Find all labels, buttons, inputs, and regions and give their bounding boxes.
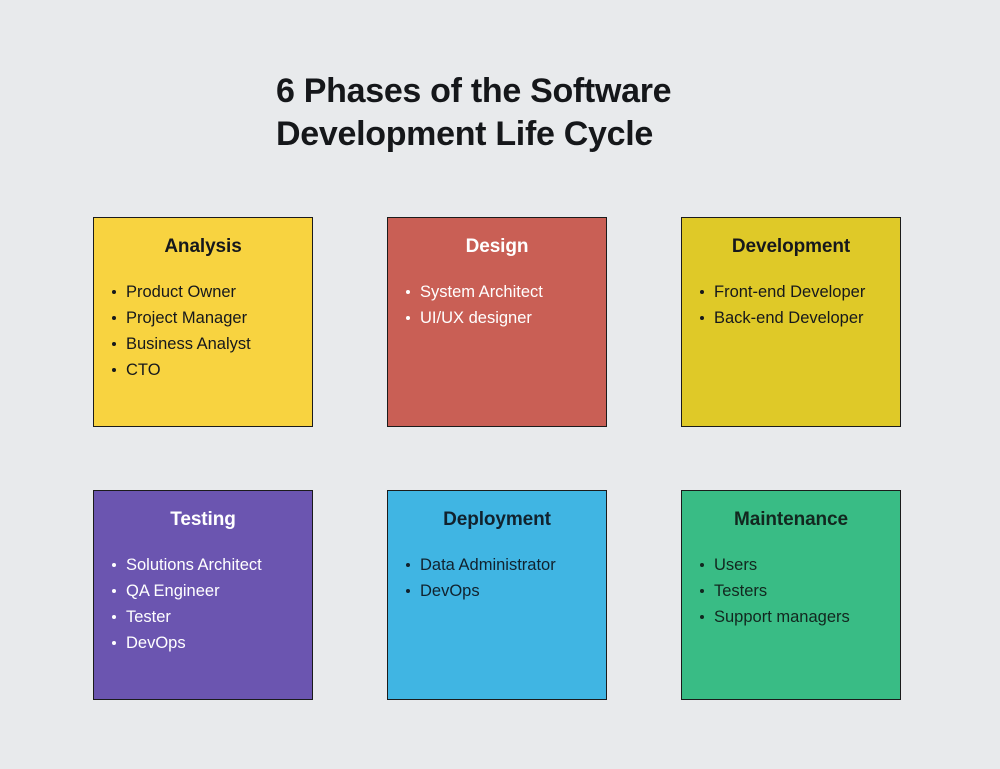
phase-role-item: Testers bbox=[698, 578, 890, 604]
phase-role-item: Tester bbox=[110, 604, 302, 630]
phase-role-list: Data AdministratorDevOps bbox=[388, 552, 606, 604]
phase-role-list: Product OwnerProject ManagerBusiness Ana… bbox=[94, 279, 312, 383]
phase-card-analysis[interactable]: AnalysisProduct OwnerProject ManagerBusi… bbox=[93, 217, 313, 427]
phase-role-item: Users bbox=[698, 552, 890, 578]
phase-role-list: Front-end DeveloperBack-end Developer bbox=[682, 279, 900, 331]
page-title: 6 Phases of the Software Development Lif… bbox=[276, 70, 796, 156]
phase-role-item: Solutions Architect bbox=[110, 552, 302, 578]
phase-role-item: UI/UX designer bbox=[404, 305, 596, 331]
phase-role-list: System ArchitectUI/UX designer bbox=[388, 279, 606, 331]
phase-role-item: Data Administrator bbox=[404, 552, 596, 578]
phase-role-item: DevOps bbox=[404, 578, 596, 604]
phase-card-design[interactable]: DesignSystem ArchitectUI/UX designer bbox=[387, 217, 607, 427]
phase-card-maintenance[interactable]: MaintenanceUsersTestersSupport managers bbox=[681, 490, 901, 700]
phase-card-grid: AnalysisProduct OwnerProject ManagerBusi… bbox=[93, 217, 911, 700]
phase-card-title: Development bbox=[682, 236, 900, 258]
phase-card-title: Deployment bbox=[388, 509, 606, 531]
phase-card-testing[interactable]: TestingSolutions ArchitectQA EngineerTes… bbox=[93, 490, 313, 700]
phase-role-item: DevOps bbox=[110, 630, 302, 656]
phase-role-item: Project Manager bbox=[110, 305, 302, 331]
phase-role-item: CTO bbox=[110, 357, 302, 383]
phase-role-item: Product Owner bbox=[110, 279, 302, 305]
infographic-canvas: 6 Phases of the Software Development Lif… bbox=[0, 0, 1000, 769]
phase-role-list: UsersTestersSupport managers bbox=[682, 552, 900, 630]
phase-card-title: Testing bbox=[94, 509, 312, 531]
phase-role-item: System Architect bbox=[404, 279, 596, 305]
phase-role-item: Back-end Developer bbox=[698, 305, 890, 331]
phase-role-list: Solutions ArchitectQA EngineerTesterDevO… bbox=[94, 552, 312, 656]
phase-card-title: Design bbox=[388, 236, 606, 258]
phase-role-item: Business Analyst bbox=[110, 331, 302, 357]
phase-card-title: Analysis bbox=[94, 236, 312, 258]
phase-role-item: QA Engineer bbox=[110, 578, 302, 604]
phase-card-title: Maintenance bbox=[682, 509, 900, 531]
phase-role-item: Front-end Developer bbox=[698, 279, 890, 305]
phase-card-development[interactable]: DevelopmentFront-end DeveloperBack-end D… bbox=[681, 217, 901, 427]
phase-role-item: Support managers bbox=[698, 604, 890, 630]
phase-card-deployment[interactable]: DeploymentData AdministratorDevOps bbox=[387, 490, 607, 700]
